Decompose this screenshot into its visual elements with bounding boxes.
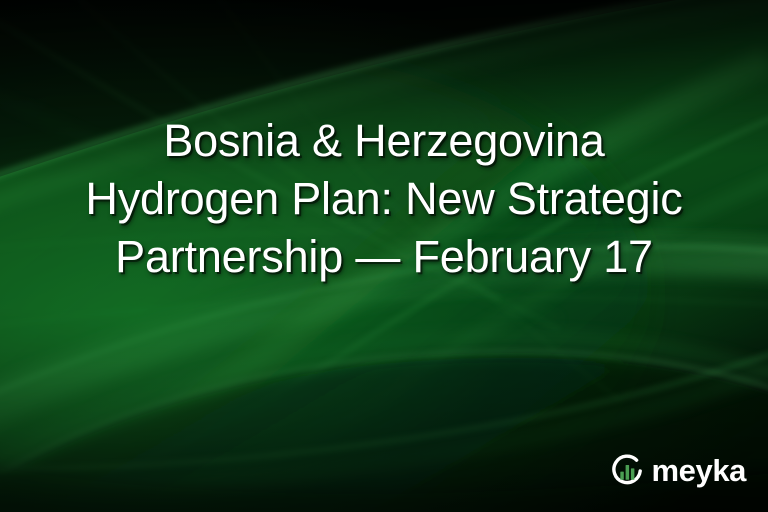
meyka-logo[interactable]: meyka: [608, 452, 746, 490]
page-title: Bosnia & Herzegovina Hydrogen Plan: New …: [0, 112, 768, 286]
title-line-3: Partnership — February 17: [0, 228, 768, 286]
title-line-1: Bosnia & Herzegovina: [0, 112, 768, 170]
circular-bar-chart-icon: [608, 452, 646, 490]
social-share-card: Bosnia & Herzegovina Hydrogen Plan: New …: [0, 0, 768, 512]
title-line-2: Hydrogen Plan: New Strategic: [0, 170, 768, 228]
logo-wordmark: meyka: [651, 455, 746, 488]
